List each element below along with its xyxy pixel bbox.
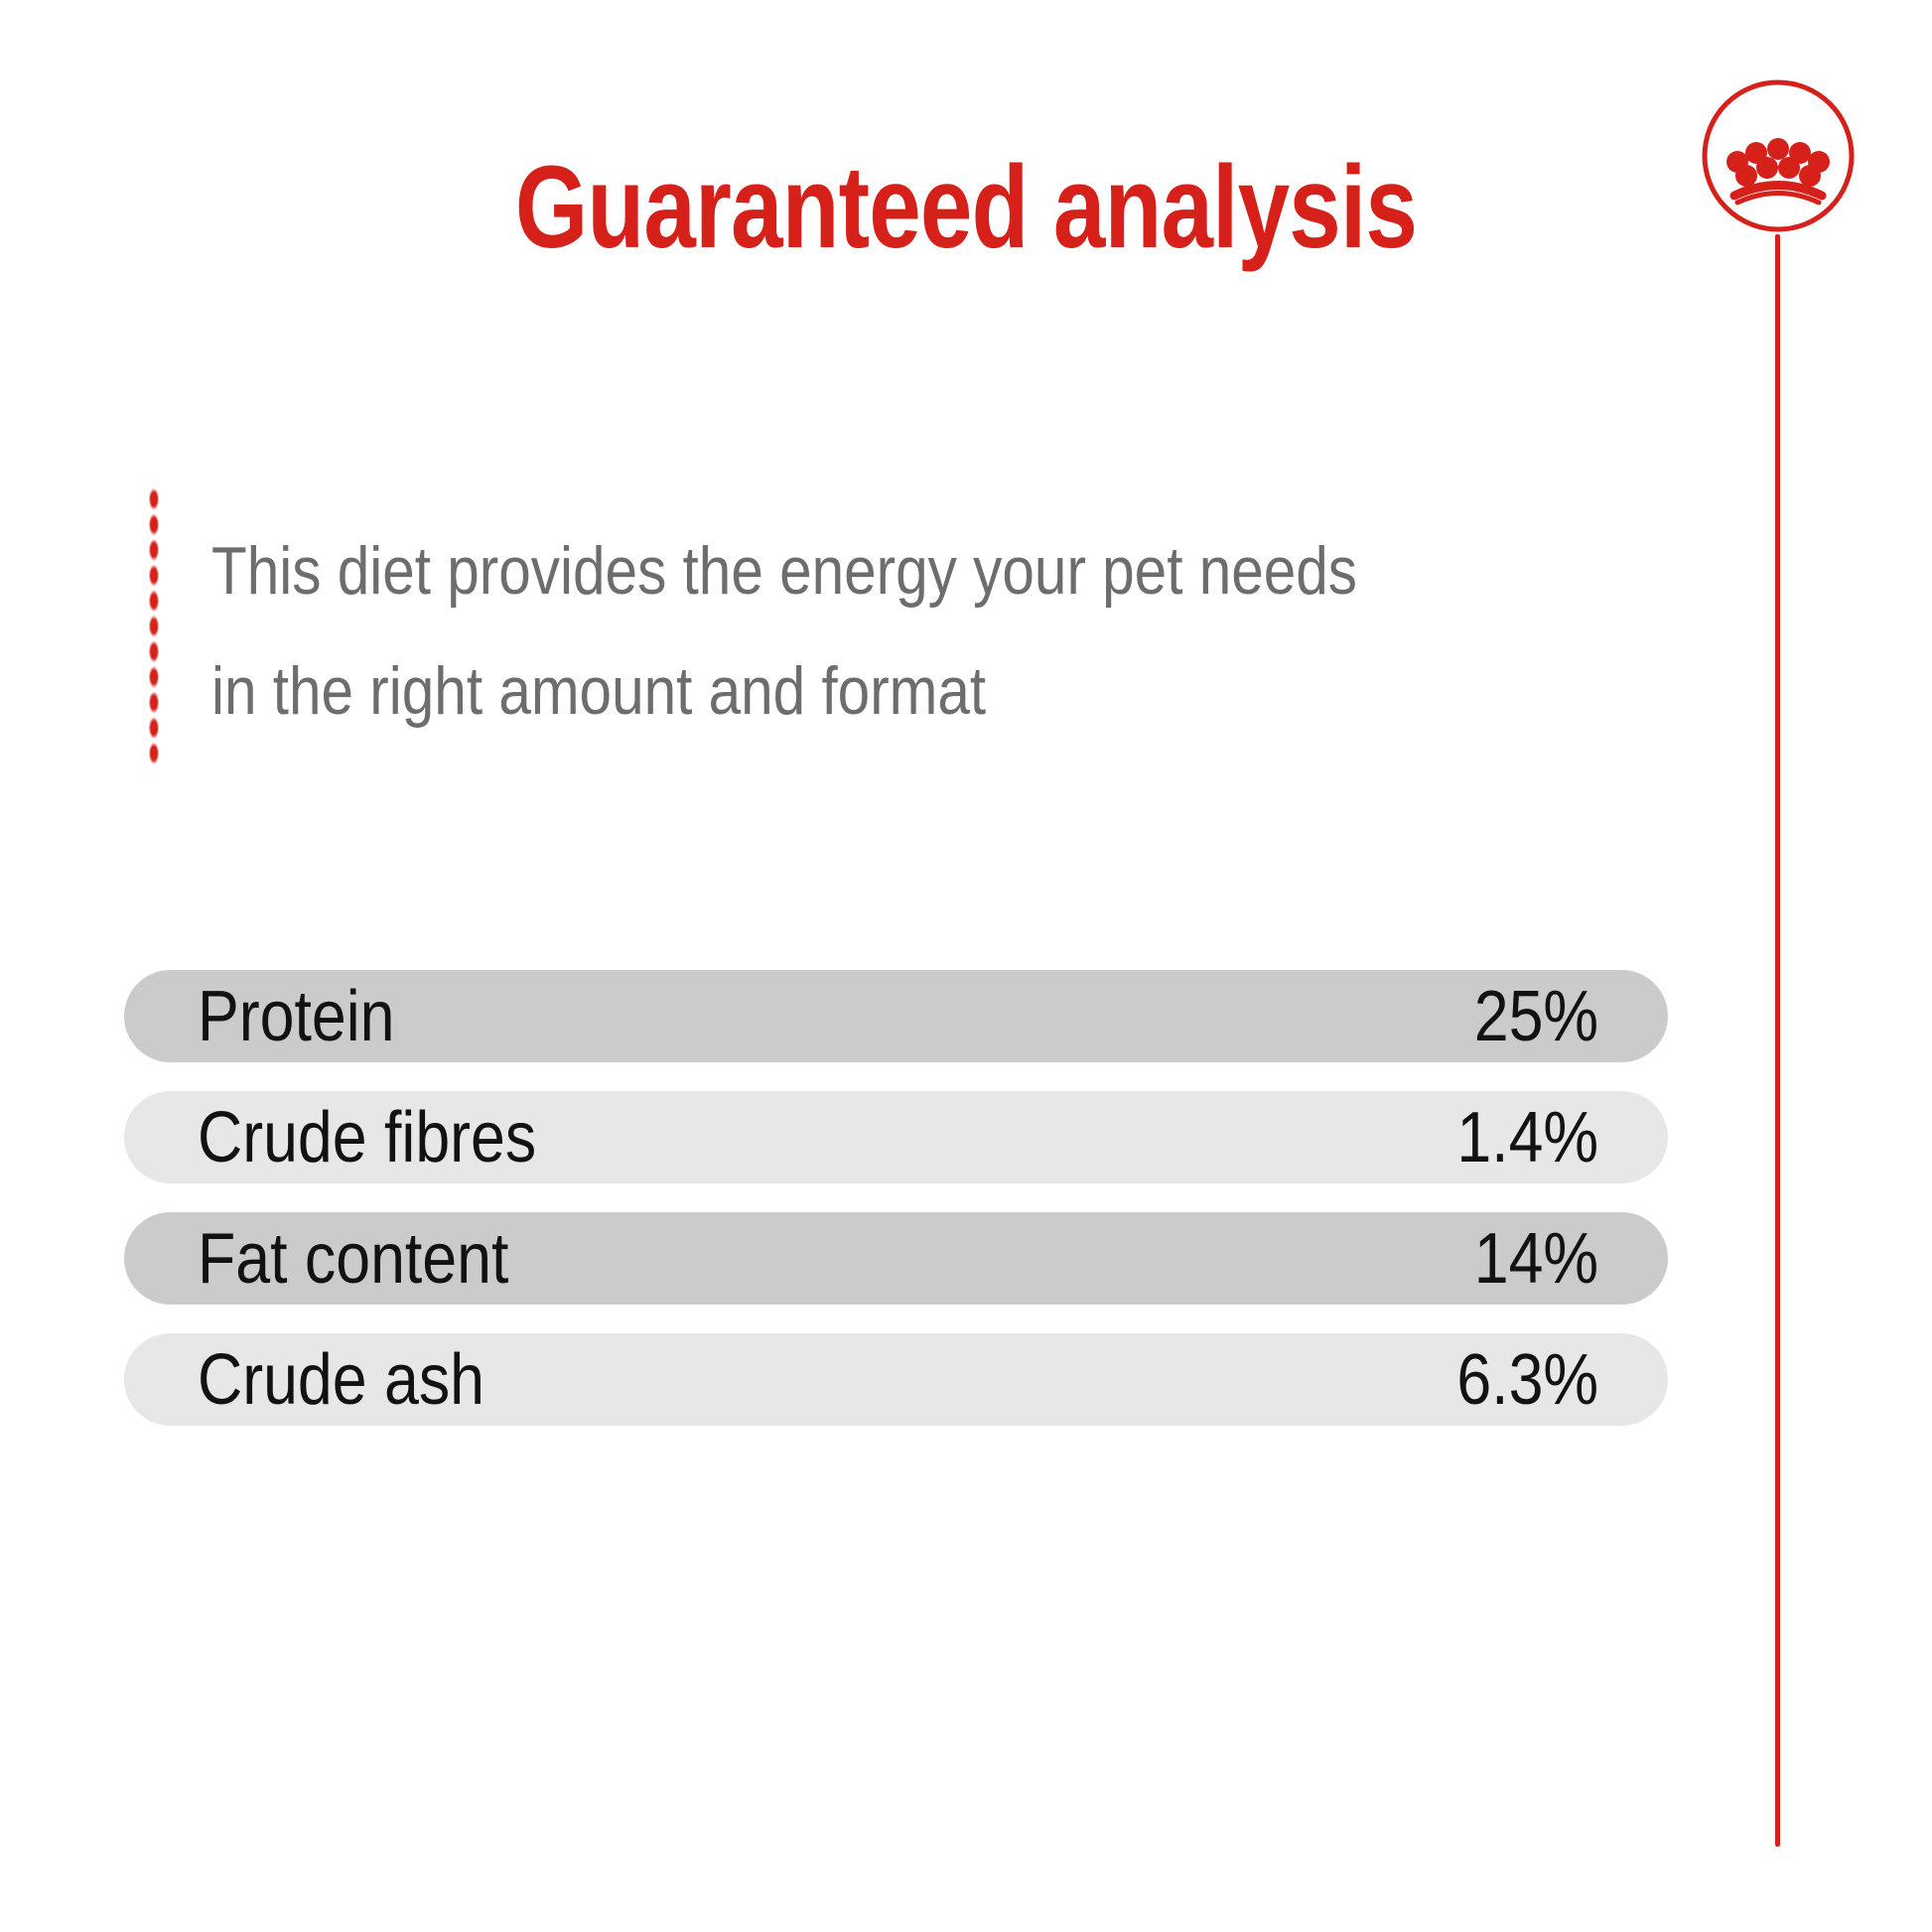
intro-line-1: This diet provides the energy your pet n… bbox=[211, 511, 1321, 631]
row-label: Crude fibres bbox=[198, 1102, 536, 1173]
row-label: Protein bbox=[198, 981, 394, 1052]
row-value: 14% bbox=[1474, 1223, 1598, 1295]
row-value: 25% bbox=[1474, 981, 1598, 1052]
row-label: Fat content bbox=[198, 1223, 508, 1295]
intro-text: This diet provides the energy your pet n… bbox=[211, 511, 1321, 752]
guaranteed-analysis-table: Protein 25% Crude fibres 1.4% Fat conten… bbox=[124, 970, 1668, 1426]
red-dotted-line-icon bbox=[148, 486, 160, 766]
table-row: Fat content 14% bbox=[124, 1212, 1668, 1305]
page-root: Guaranteed analysis This diet provides bbox=[0, 0, 1932, 1932]
logo-stem-line bbox=[1775, 234, 1780, 1847]
table-row: Crude fibres 1.4% bbox=[124, 1091, 1668, 1183]
row-value: 6.3% bbox=[1456, 1344, 1598, 1416]
page-title: Guaranteed analysis bbox=[194, 147, 1739, 270]
row-value: 1.4% bbox=[1456, 1102, 1598, 1173]
royal-canin-crown-icon bbox=[1700, 77, 1857, 234]
row-label: Crude ash bbox=[198, 1344, 484, 1416]
intro-line-2: in the right amount and format bbox=[211, 631, 1321, 752]
table-row: Crude ash 6.3% bbox=[124, 1333, 1668, 1426]
table-row: Protein 25% bbox=[124, 970, 1668, 1062]
